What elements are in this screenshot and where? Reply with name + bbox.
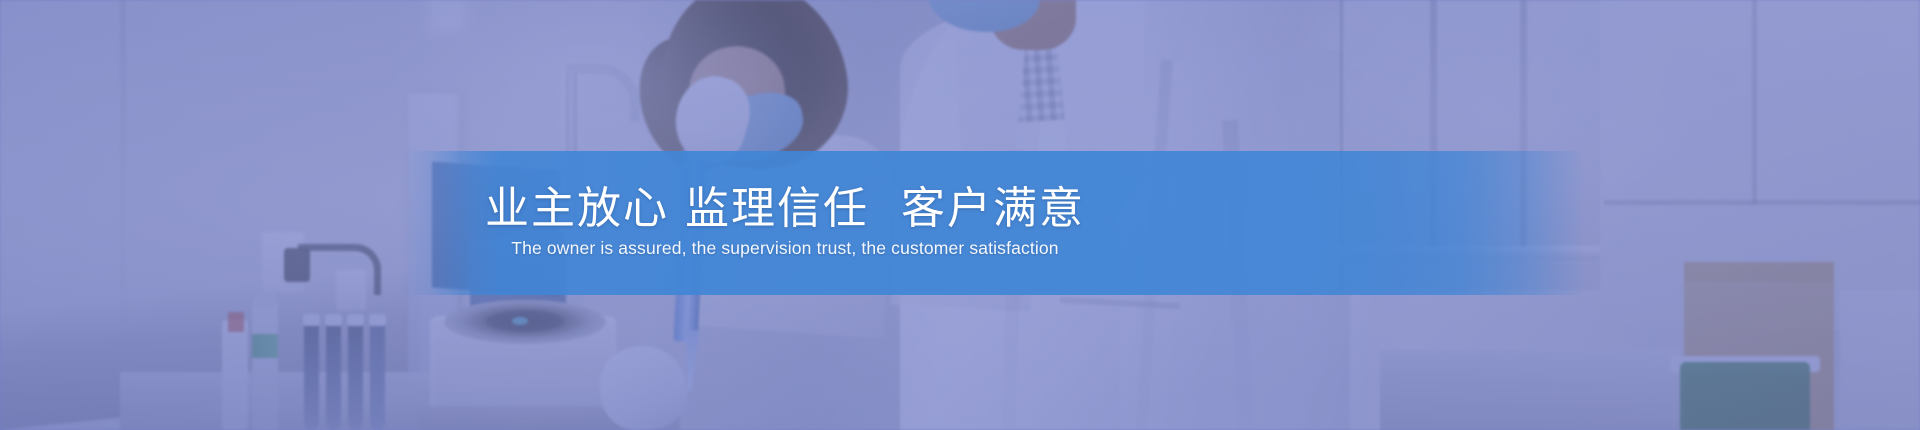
hero-banner: 业主放心 监理信任 客户满意 The owner is assured, the…: [0, 0, 1920, 430]
slogan-text-block: 业主放心 监理信任 客户满意 The owner is assured, the…: [0, 151, 1570, 295]
slogan-headline: 业主放心 监理信任 客户满意: [485, 187, 1085, 232]
slogan-subheadline: The owner is assured, the supervision tr…: [511, 238, 1058, 259]
